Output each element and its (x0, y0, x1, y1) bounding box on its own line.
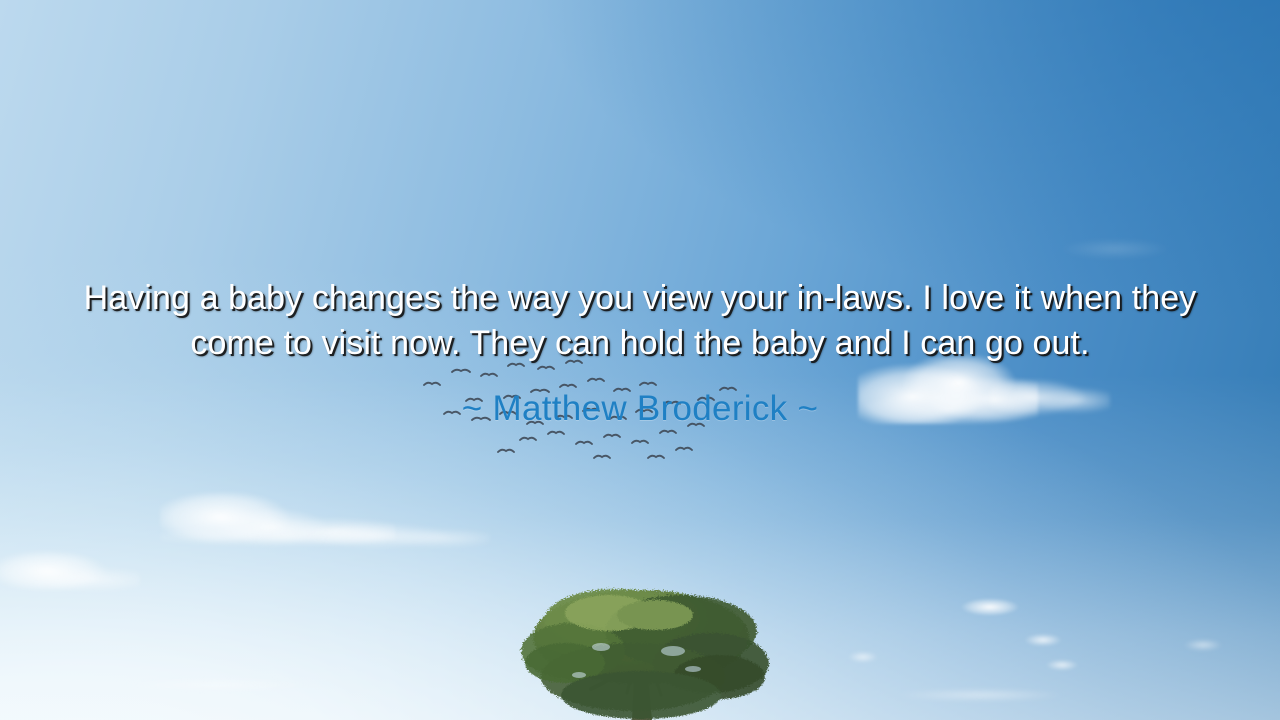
quote-wallpaper: Having a baby changes the way you view y… (0, 0, 1280, 720)
tree-silhouette (505, 585, 780, 720)
quote-text: Having a baby changes the way you view y… (60, 276, 1220, 366)
quote-author: ~ Matthew Broderick ~ (60, 388, 1220, 430)
quote-block: Having a baby changes the way you view y… (60, 276, 1220, 430)
